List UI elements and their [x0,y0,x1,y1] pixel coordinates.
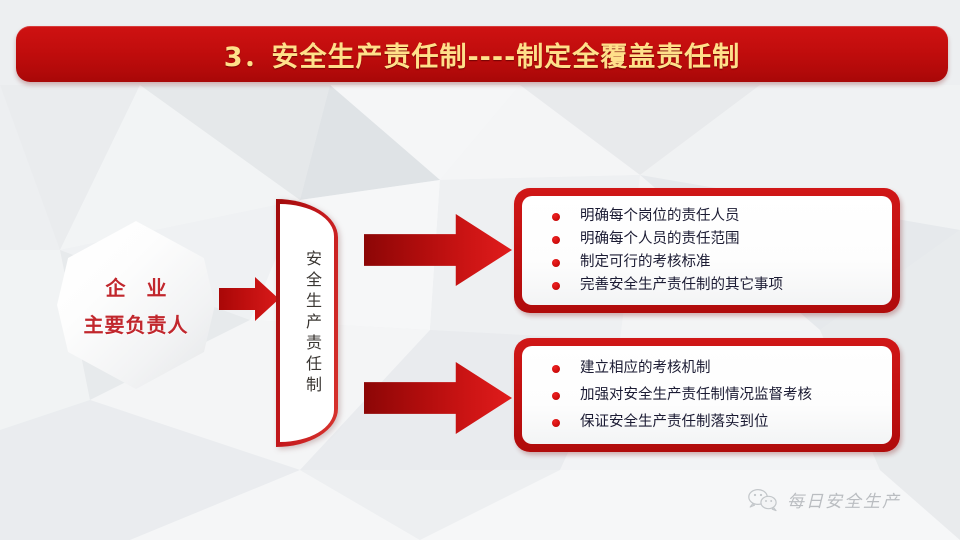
bullet-dot-icon [552,392,560,400]
list-item-label: 制定可行的考核标准 [580,254,711,270]
content-box-top: 明确每个岗位的责任人员 明确每个人员的责任范围 制定可行的考核标准 完善安全生产… [514,188,900,313]
wechat-icon [748,488,778,512]
list-item: 加强对安全生产责任制情况监督考核 [544,382,882,409]
leaf-label: 安全生产责任制 [304,250,320,397]
list-item-label: 明确每个岗位的责任人员 [580,208,740,224]
page-title: 3．安全生产责任制----制定全覆盖责任制 [224,35,741,74]
list-item-label: 保证安全生产责任制落实到位 [580,414,769,430]
hexagon-line-2: 主要负责人 [84,309,189,338]
bullet-dot-icon [552,213,560,221]
list-item: 建立相应的考核机制 [544,355,882,382]
content-box-top-inner: 明确每个岗位的责任人员 明确每个人员的责任范围 制定可行的考核标准 完善安全生产… [522,196,892,305]
bullet-dot-icon [552,282,560,290]
watermark-label: 每日安全生产 [787,487,901,512]
list-item-label: 完善安全生产责任制的其它事项 [580,277,783,293]
list-item-label: 明确每个人员的责任范围 [580,231,740,247]
leaf-text-group: 安全生产责任制 [276,199,338,447]
hexagon-company-leader: 企 业 主要负责人 [57,221,215,389]
bullet-dot-icon [552,236,560,244]
bullet-list-bottom: 建立相应的考核机制 加强对安全生产责任制情况监督考核 保证安全生产责任制落实到位 [544,355,882,436]
slide-canvas: 3．安全生产责任制----制定全覆盖责任制 企 业 主要负责人 安全生产责任制 … [0,0,960,540]
hexagon-text-group: 企 业 主要负责人 [57,221,215,389]
list-item-label: 加强对安全生产责任制情况监督考核 [580,387,812,403]
title-banner: 3．安全生产责任制----制定全覆盖责任制 [16,26,948,82]
bullet-dot-icon [552,259,560,267]
bullet-list-top: 明确每个岗位的责任人员 明确每个人员的责任范围 制定可行的考核标准 完善安全生产… [544,205,882,297]
hexagon-line-1: 企 业 [99,272,174,301]
content-box-bottom-inner: 建立相应的考核机制 加强对安全生产责任制情况监督考核 保证安全生产责任制落实到位 [522,346,892,444]
list-item: 保证安全生产责任制落实到位 [544,409,882,436]
content-box-bottom: 建立相应的考核机制 加强对安全生产责任制情况监督考核 保证安全生产责任制落实到位 [514,338,900,452]
bullet-dot-icon [552,419,560,427]
list-item: 明确每个岗位的责任人员 [544,205,882,228]
bullet-dot-icon [552,365,560,373]
watermark: 每日安全生产 [748,487,901,512]
list-item-label: 建立相应的考核机制 [580,360,711,376]
list-item: 完善安全生产责任制的其它事项 [544,274,882,297]
list-item: 制定可行的考核标准 [544,251,882,274]
list-item: 明确每个人员的责任范围 [544,228,882,251]
leaf-safety-responsibility: 安全生产责任制 [276,199,338,447]
